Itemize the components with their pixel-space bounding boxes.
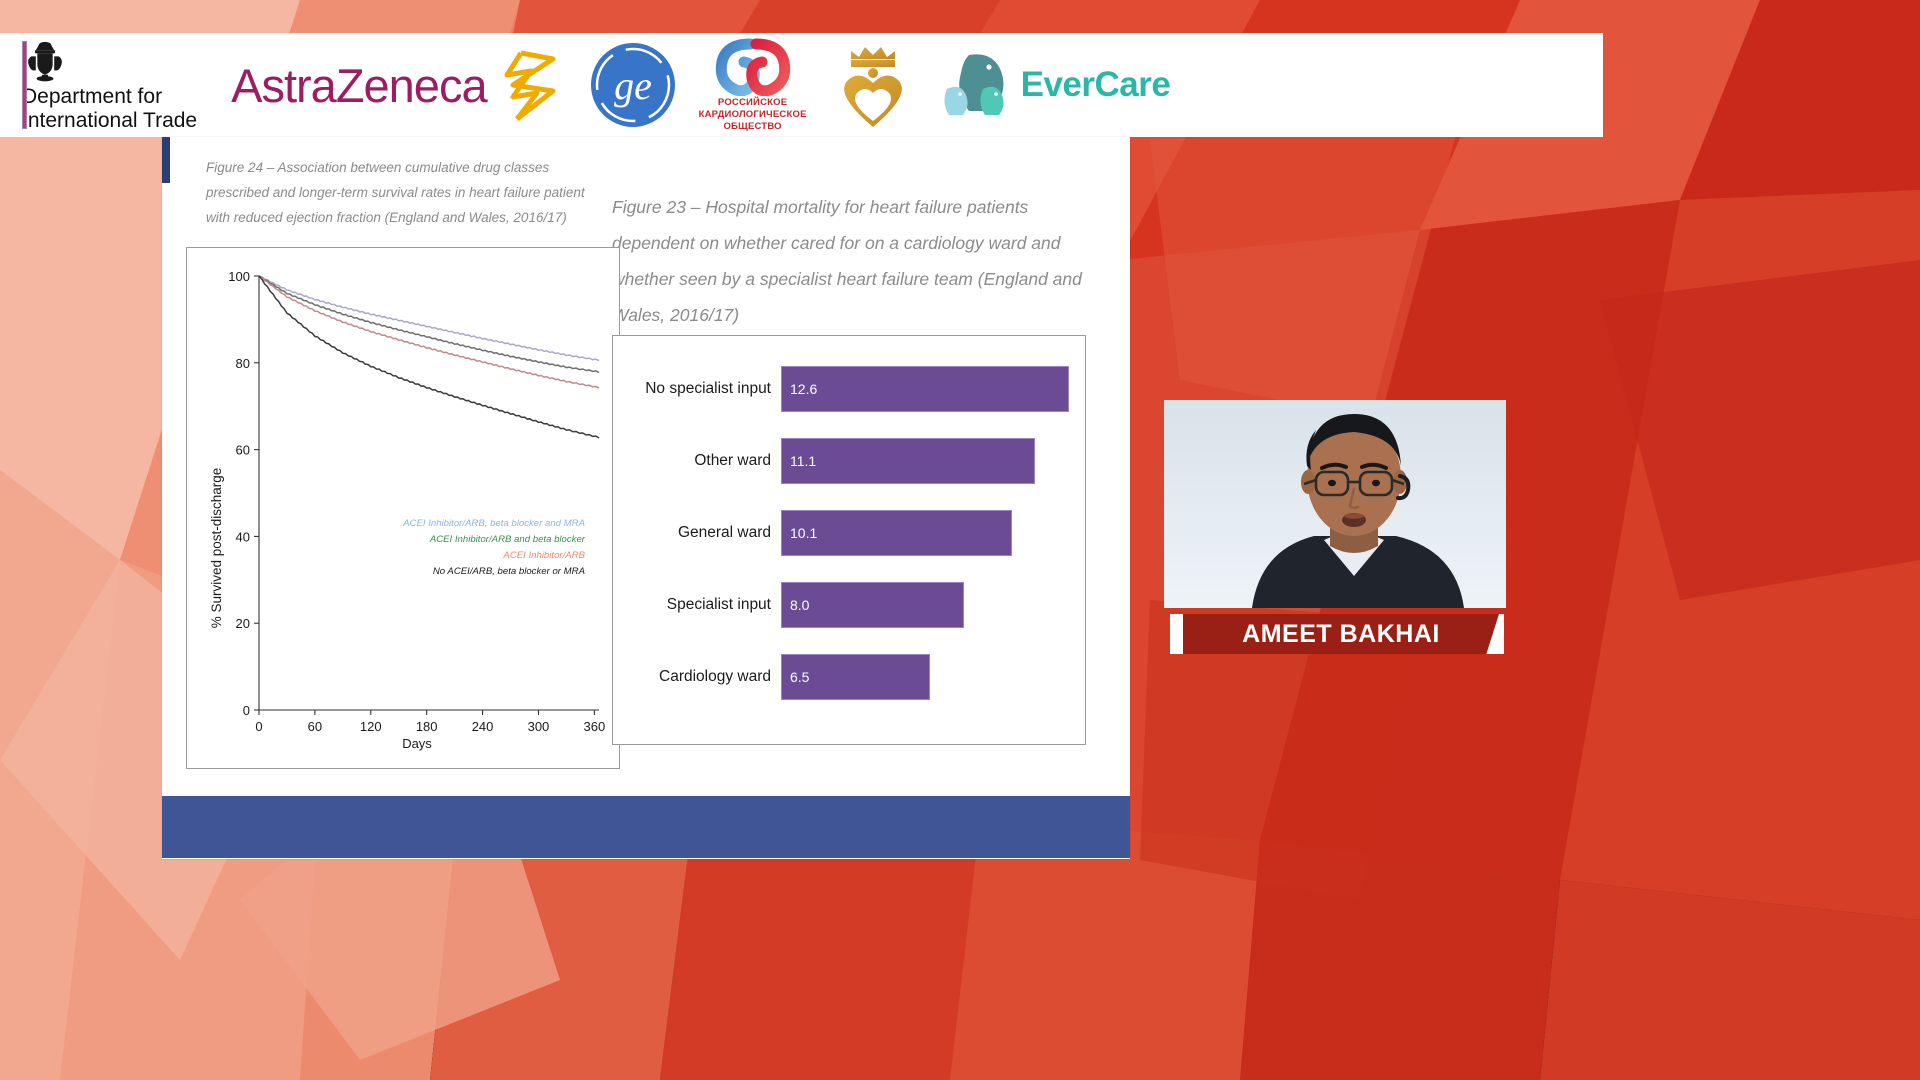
survival-curve-series-1 <box>259 276 599 372</box>
y-axis-title: % Survived post-discharge <box>209 468 224 629</box>
bar-category-label: Cardiology ward <box>613 654 771 700</box>
figure24-chart: 020406080100060120180240300360 ACEI Inhi… <box>186 247 620 769</box>
bar-category-label: General ward <box>613 510 771 556</box>
figure24-caption: Figure 24 – Association between cumulati… <box>206 155 606 230</box>
svg-text:ge: ge <box>614 63 652 108</box>
legend-entry-0: ACEI Inhibitor/ARB, beta blocker and MRA <box>402 518 585 529</box>
rko-line2: КАРДИОЛОГИЧЕСКОЕ <box>699 109 807 120</box>
bar-category-label: Other ward <box>613 438 771 484</box>
x-tick-label: 0 <box>255 719 262 734</box>
astrazeneca-helix-icon <box>491 45 565 125</box>
astrazeneca-logo: AstraZeneca <box>231 45 564 125</box>
russian-cardiology-society-icon <box>710 38 796 96</box>
x-tick-label: 300 <box>528 719 550 734</box>
bar-segment: 8.0 <box>781 582 964 628</box>
bar-segment: 10.1 <box>781 510 1012 556</box>
legend-entry-2: ACEI Inhibitor/ARB <box>502 550 585 561</box>
astrazeneca-wordmark: AstraZeneca <box>231 58 486 113</box>
y-tick-label: 60 <box>236 443 250 458</box>
figure23-caption: Figure 23 – Hospital mortality for heart… <box>612 189 1104 333</box>
crowned-heart-icon <box>833 39 915 131</box>
bar-chart-host: No specialist input12.6Other ward11.1Gen… <box>613 336 1085 744</box>
x-tick-label: 360 <box>583 719 605 734</box>
x-tick-label: 120 <box>360 719 382 734</box>
bar-value-label: 12.6 <box>790 381 817 397</box>
royal-crest-icon <box>22 38 68 84</box>
bar-segment: 11.1 <box>781 438 1035 484</box>
dit-logo: Department for International Trade <box>22 38 197 133</box>
survival-curve-plot: 020406080100060120180240300360 ACEI Inhi… <box>187 248 617 766</box>
legend-entry-3: No ACEI/ARB, beta blocker or MRA <box>433 566 585 577</box>
survival-curve-series-3 <box>259 276 599 438</box>
y-tick-label: 0 <box>243 703 250 718</box>
bar-value-label: 10.1 <box>790 525 817 541</box>
dit-line2: International Trade <box>22 109 197 133</box>
dit-line1: Department for <box>22 85 197 109</box>
x-tick-label: 180 <box>416 719 438 734</box>
bar-category-label: Specialist input <box>613 582 771 628</box>
figure23-chart: No specialist input12.6Other ward11.1Gen… <box>612 335 1086 745</box>
russian-cardiology-society-logo: РОССИЙСКОЕ КАРДИОЛОГИЧЕСКОЕ ОБЩЕСТВО <box>699 38 807 132</box>
y-tick-label: 100 <box>228 269 250 284</box>
presentation-slide: Figure 24 – Association between cumulati… <box>162 137 1130 859</box>
presentation-screen: Department for International Trade Astra… <box>0 0 1920 1080</box>
dit-accent-bar <box>22 41 27 129</box>
bar-value-label: 11.1 <box>790 453 816 469</box>
sponsor-logo-bar: Department for International Trade Astra… <box>0 33 1603 137</box>
bar-value-label: 8.0 <box>790 597 809 613</box>
speaker-video-tile[interactable] <box>1164 400 1506 608</box>
slide-footer-band <box>162 796 1130 858</box>
y-tick-label: 80 <box>236 356 250 371</box>
rko-line1: РОССИЙСКОЕ <box>718 97 787 108</box>
speaker-webcam-image <box>1164 400 1506 608</box>
rko-line3: ОБЩЕСТВО <box>723 121 781 132</box>
bar-segment: 6.5 <box>781 654 930 700</box>
x-tick-label: 60 <box>308 719 322 734</box>
bar-segment: 12.6 <box>781 366 1069 412</box>
speaker-name-plate: AMEET BAKHAI <box>1183 614 1499 654</box>
slide-accent-bar <box>162 137 170 183</box>
y-tick-label: 20 <box>236 616 250 631</box>
x-axis-title: Days <box>402 736 432 751</box>
legend-entry-1: ACEI Inhibitor/ARB and beta blocker <box>429 534 586 545</box>
bar-value-label: 6.5 <box>790 669 809 685</box>
y-tick-label: 40 <box>236 529 250 544</box>
evercare-birds-icon <box>939 49 1017 121</box>
slide-canvas: Figure 24 – Association between cumulati… <box>162 137 1130 859</box>
bar-category-label: No specialist input <box>613 366 771 412</box>
ge-monogram-icon: ge <box>589 41 677 129</box>
x-tick-label: 240 <box>472 719 494 734</box>
evercare-logo: EverCare <box>939 49 1171 121</box>
speaker-name-label: AMEET BAKHAI <box>1242 620 1440 649</box>
evercare-wordmark: EverCare <box>1021 65 1171 105</box>
